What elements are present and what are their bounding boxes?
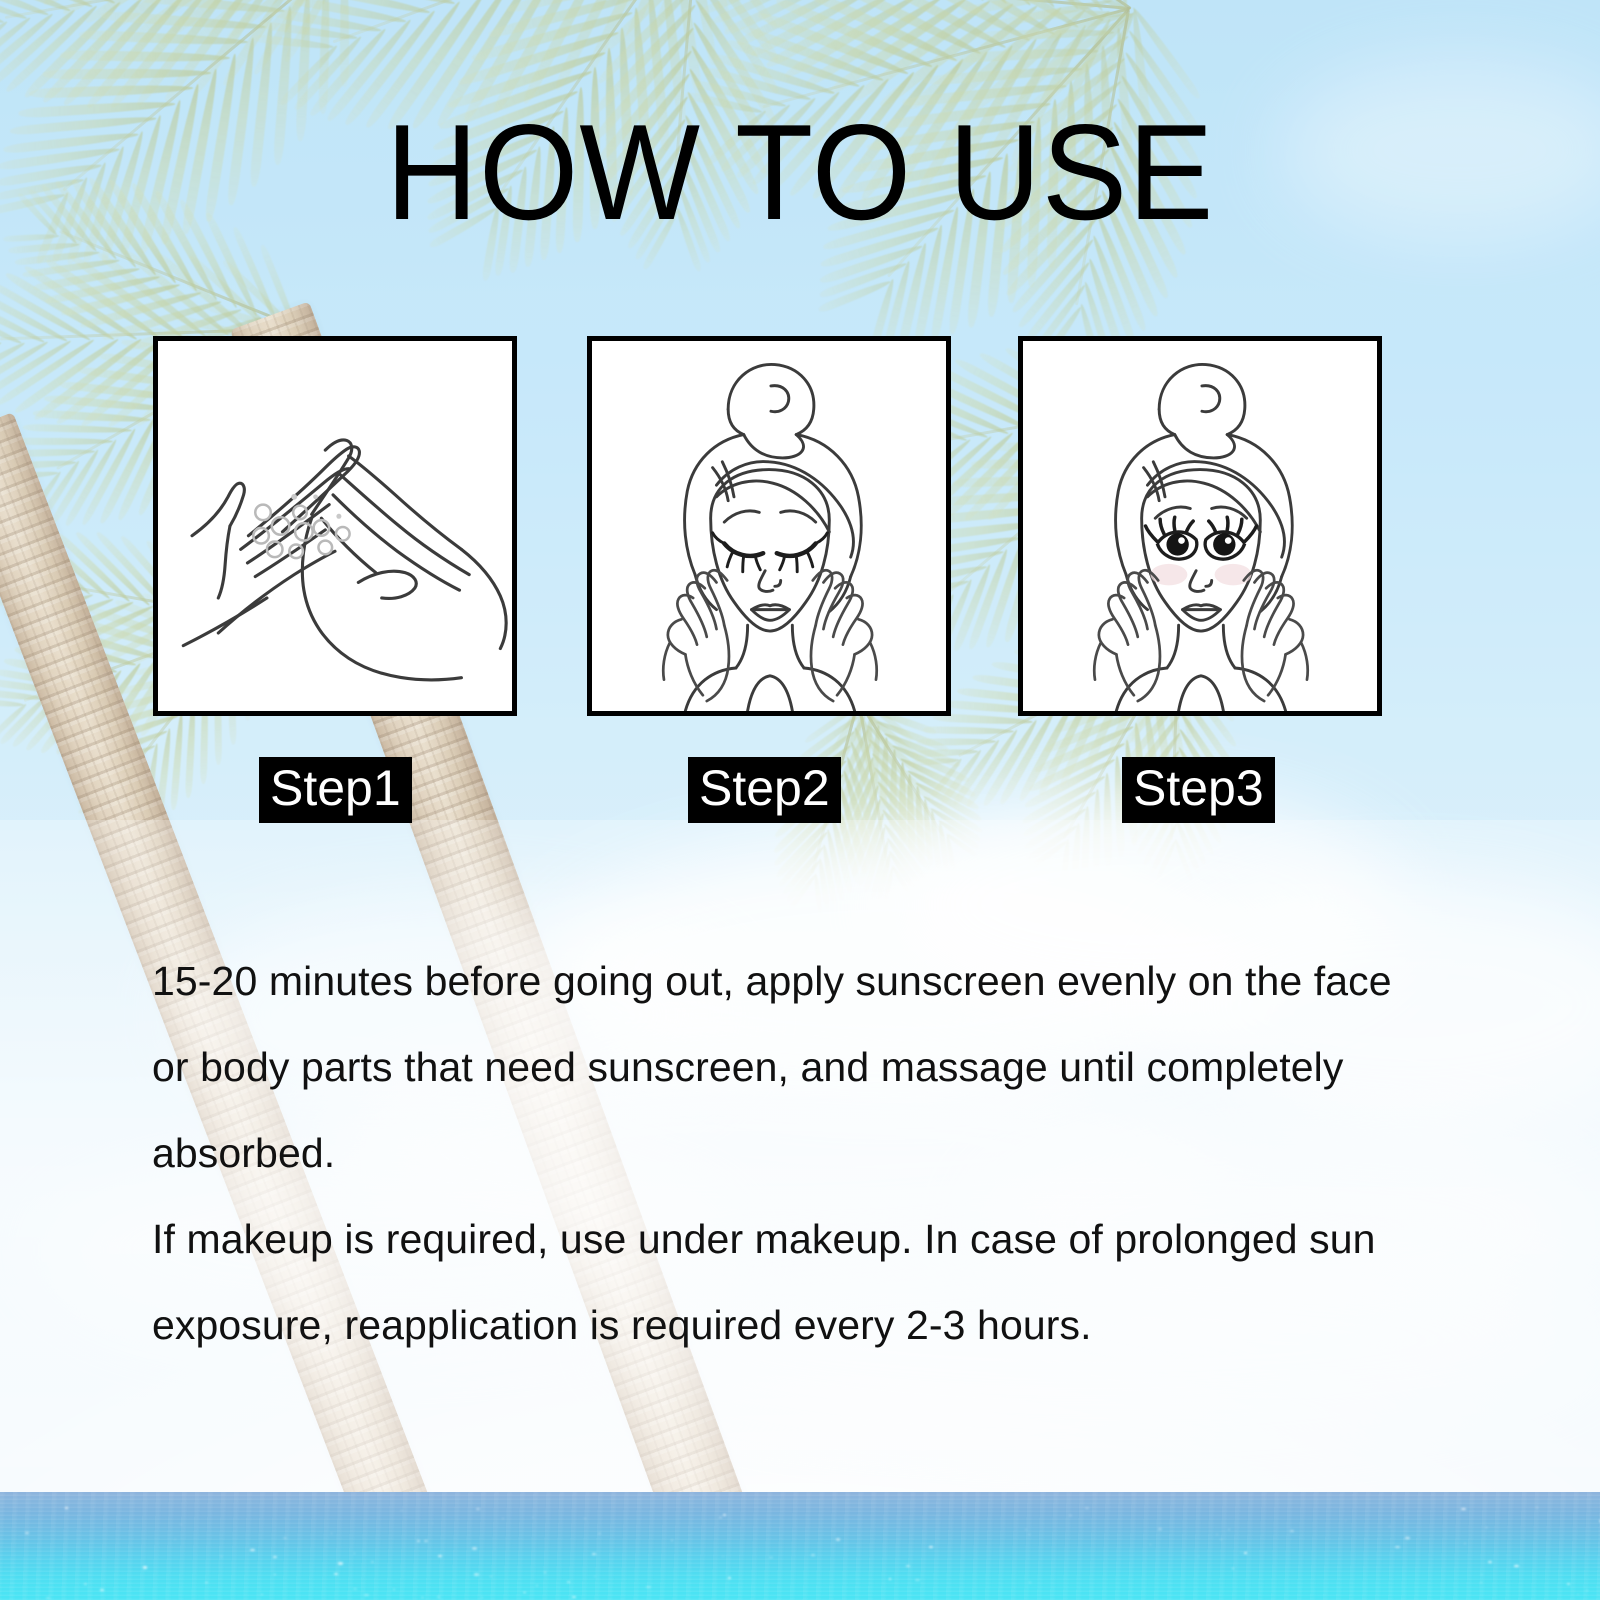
poster-content: HOW TO USE	[0, 0, 1600, 1600]
instructions-block: 15-20 minutes before going out, apply su…	[152, 938, 1420, 1368]
step-1-label: Step1	[259, 757, 412, 823]
poster-canvas: HOW TO USE	[0, 0, 1600, 1600]
instructions-paragraph-1: 15-20 minutes before going out, apply su…	[152, 938, 1420, 1196]
step-2-label: Step2	[688, 757, 841, 823]
step-3-label: Step3	[1122, 757, 1275, 823]
instructions-paragraph-2: If makeup is required, use under makeup.…	[152, 1196, 1420, 1368]
